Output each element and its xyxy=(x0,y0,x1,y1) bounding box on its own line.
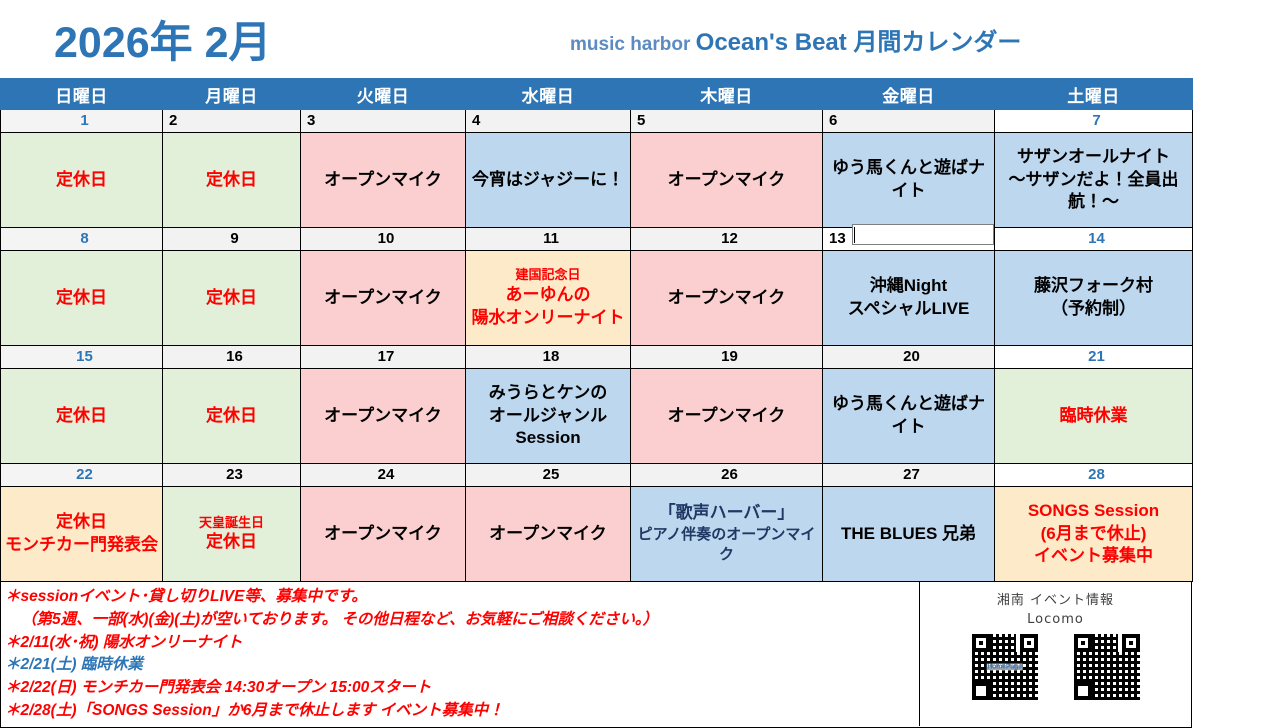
event-cell-17[interactable]: オープンマイク xyxy=(301,369,466,464)
date-cell-25[interactable]: 25 xyxy=(466,464,631,487)
event-cell-16[interactable]: 定休日 xyxy=(163,369,301,464)
date-cell-6[interactable]: 6 xyxy=(823,110,995,133)
event-cell-15[interactable]: 定休日 xyxy=(1,369,163,464)
event-line: 定休日 xyxy=(4,287,159,310)
date-cell-3[interactable]: 3 xyxy=(301,110,466,133)
event-cell-9[interactable]: 定休日 xyxy=(163,251,301,346)
event-cell-25[interactable]: オープンマイク xyxy=(466,487,631,582)
date-cell-11[interactable]: 11 xyxy=(466,228,631,251)
weekday-header-tue: 火曜日 xyxy=(301,79,466,110)
event-line: オープンマイク xyxy=(634,405,819,428)
event-line: 「歌声ハーバー」 xyxy=(634,502,819,525)
event-line: Session xyxy=(469,427,627,450)
weekday-header-fri: 金曜日 xyxy=(823,79,995,110)
event-line: 〜サザンだよ！全員出航！〜 xyxy=(998,169,1189,215)
brand-prefix: music harbor xyxy=(570,34,696,55)
page-title: 2026年 2月 xyxy=(54,8,272,70)
event-line: オープンマイク xyxy=(634,169,819,192)
event-row-week-2: 定休日 定休日 オープンマイク 建国記念日 あーゆんの 陽水オンリーナイト オー… xyxy=(1,251,1193,346)
event-line: 陽水オンリーナイト xyxy=(469,307,627,330)
event-line: あーゆんの xyxy=(469,284,627,307)
weekday-header-mon: 月曜日 xyxy=(163,79,301,110)
footer-notes-panel: ＊sessionイベント･貸し切りLIVE等、募集中です。 （第5週、一部(水)… xyxy=(0,582,1192,728)
event-cell-1[interactable]: 定休日 xyxy=(1,133,163,228)
date-cell-9[interactable]: 9 xyxy=(163,228,301,251)
date-row-week-3: 15 16 17 18 19 20 21 xyxy=(1,346,1193,369)
date-cell-22[interactable]: 22 xyxy=(1,464,163,487)
qr-dot-icon xyxy=(1081,641,1085,645)
page-header: 2026年 2月 music harbor Ocean's Beat 月間カレン… xyxy=(0,0,1280,78)
event-line: オープンマイク xyxy=(304,405,462,428)
text-caret xyxy=(854,227,855,243)
calendar-table: 日曜日 月曜日 火曜日 水曜日 木曜日 金曜日 土曜日 1 2 3 4 5 6 … xyxy=(0,78,1193,582)
qr-finder-icon xyxy=(1122,634,1140,652)
event-line: 沖縄Night xyxy=(826,275,991,298)
event-cell-22[interactable]: 定休日 モンチカー門発表会 xyxy=(1,487,163,582)
date-cell-16[interactable]: 16 xyxy=(163,346,301,369)
date-row-week-1: 1 2 3 4 5 6 7 xyxy=(1,110,1193,133)
date-cell-23[interactable]: 23 xyxy=(163,464,301,487)
date-cell-8[interactable]: 8 xyxy=(1,228,163,251)
weekday-header-sat: 土曜日 xyxy=(995,79,1193,110)
event-cell-19[interactable]: オープンマイク xyxy=(631,369,823,464)
qr-caption-line1: 湘南 イベント情報 xyxy=(920,592,1191,611)
qr-code-row: HomePage xyxy=(920,634,1191,700)
event-line: イベント募集中 xyxy=(998,545,1189,568)
event-cell-23[interactable]: 天皇誕生日 定休日 xyxy=(163,487,301,582)
qr-finder-icon xyxy=(1020,634,1038,652)
event-line: オープンマイク xyxy=(304,523,462,546)
date-cell-18[interactable]: 18 xyxy=(466,346,631,369)
event-cell-27[interactable]: THE BLUES 兄弟 xyxy=(823,487,995,582)
qr-dot-icon xyxy=(979,641,983,645)
date-cell-12[interactable]: 12 xyxy=(631,228,823,251)
event-line: みうらとケンの xyxy=(469,382,627,405)
event-cell-11[interactable]: 建国記念日 あーゆんの 陽水オンリーナイト xyxy=(466,251,631,346)
event-row-week-3: 定休日 定休日 オープンマイク みうらとケンの オールジャンル Session … xyxy=(1,369,1193,464)
qr-dot-icon xyxy=(979,689,983,693)
date-cell-10[interactable]: 10 xyxy=(301,228,466,251)
event-line: (6月まで休止) xyxy=(998,523,1189,546)
event-line: 定休日 xyxy=(166,287,297,310)
date-cell-7[interactable]: 7 xyxy=(995,110,1193,133)
event-line: サザンオールナイト xyxy=(998,146,1189,169)
event-line: モンチカー門発表会 xyxy=(4,534,159,557)
event-cell-3[interactable]: オープンマイク xyxy=(301,133,466,228)
event-line: オープンマイク xyxy=(304,169,462,192)
event-cell-14[interactable]: 藤沢フォーク村 （予約制） xyxy=(995,251,1193,346)
brand-title: music harbor Ocean's Beat 月間カレンダー xyxy=(570,22,1021,57)
event-cell-21[interactable]: 臨時休業 xyxy=(995,369,1193,464)
event-line: 天皇誕生日 xyxy=(166,514,297,532)
event-line: 建国記念日 xyxy=(469,266,627,284)
event-line: 定休日 xyxy=(166,405,297,428)
event-cell-28[interactable]: SONGS Session (6月まで休止) イベント募集中 xyxy=(995,487,1193,582)
date-row-week-4: 22 23 24 25 26 27 28 xyxy=(1,464,1193,487)
event-cell-7[interactable]: サザンオールナイト 〜サザンだよ！全員出航！〜 xyxy=(995,133,1193,228)
date-cell-26[interactable]: 26 xyxy=(631,464,823,487)
event-cell-8[interactable]: 定休日 xyxy=(1,251,163,346)
qr-caption-line2: Locomo xyxy=(920,611,1191,630)
event-cell-6[interactable]: ゆう馬くんと遊ばナイト xyxy=(823,133,995,228)
date-cell-1[interactable]: 1 xyxy=(1,110,163,133)
event-cell-4[interactable]: 今宵はジャジーに！ xyxy=(466,133,631,228)
date-cell-14[interactable]: 14 xyxy=(995,228,1193,251)
qr-homepage-label: HomePage xyxy=(986,663,1023,670)
date-cell-4[interactable]: 4 xyxy=(466,110,631,133)
date-cell-27[interactable]: 27 xyxy=(823,464,995,487)
event-row-week-4: 定休日 モンチカー門発表会 天皇誕生日 定休日 オープンマイク オープンマイク … xyxy=(1,487,1193,582)
event-line: SONGS Session xyxy=(998,500,1189,523)
event-cell-10[interactable]: オープンマイク xyxy=(301,251,466,346)
event-line: ゆう馬くんと遊ばナイト xyxy=(826,393,991,439)
qr-dot-icon xyxy=(1081,689,1085,693)
date-cell-21[interactable]: 21 xyxy=(995,346,1193,369)
date-cell-17[interactable]: 17 xyxy=(301,346,466,369)
date-cell-28[interactable]: 28 xyxy=(995,464,1193,487)
event-line: ゆう馬くんと遊ばナイト xyxy=(826,157,991,203)
weekday-header-row: 日曜日 月曜日 火曜日 水曜日 木曜日 金曜日 土曜日 xyxy=(1,79,1193,110)
qr-caption: 湘南 イベント情報 Locomo xyxy=(920,582,1191,630)
weekday-header-sun: 日曜日 xyxy=(1,79,163,110)
event-line: 今宵はジャジーに！ xyxy=(469,169,627,192)
weekday-header-wed: 水曜日 xyxy=(466,79,631,110)
qr-code-homepage[interactable]: HomePage xyxy=(972,634,1038,700)
event-line: 定休日 xyxy=(4,169,159,192)
event-line: 定休日 xyxy=(4,511,159,534)
date-cell-2[interactable]: 2 xyxy=(163,110,301,133)
event-line: オールジャンル xyxy=(469,405,627,428)
event-line: オープンマイク xyxy=(304,287,462,310)
date-cell-5[interactable]: 5 xyxy=(631,110,823,133)
event-line: 定休日 xyxy=(166,169,297,192)
qr-code-locomo[interactable] xyxy=(1074,634,1140,700)
date-cell-15[interactable]: 15 xyxy=(1,346,163,369)
event-line: ピアノ伴奏のオープンマイク xyxy=(634,525,819,566)
event-line: オープンマイク xyxy=(634,287,819,310)
event-cell-18[interactable]: みうらとケンの オールジャンル Session xyxy=(466,369,631,464)
event-cell-20[interactable]: ゆう馬くんと遊ばナイト xyxy=(823,369,995,464)
event-line: THE BLUES 兄弟 xyxy=(826,523,991,546)
event-cell-12[interactable]: オープンマイク xyxy=(631,251,823,346)
event-row-week-1: 定休日 定休日 オープンマイク 今宵はジャジーに！ オープンマイク ゆう馬くんと… xyxy=(1,133,1193,228)
date-row-week-2: 8 9 10 11 12 13 14 xyxy=(1,228,1193,251)
event-line: オープンマイク xyxy=(469,523,627,546)
event-line: 定休日 xyxy=(4,405,159,428)
event-cell-2[interactable]: 定休日 xyxy=(163,133,301,228)
event-cell-5[interactable]: オープンマイク xyxy=(631,133,823,228)
event-line: 臨時休業 xyxy=(998,405,1189,428)
event-cell-26[interactable]: 「歌声ハーバー」 ピアノ伴奏のオープンマイク xyxy=(631,487,823,582)
date-cell-20[interactable]: 20 xyxy=(823,346,995,369)
cell-edit-textbox[interactable] xyxy=(852,224,994,245)
event-line: （予約制） xyxy=(998,298,1189,321)
qr-panel: 湘南 イベント情報 Locomo HomePage xyxy=(919,582,1191,726)
event-cell-13[interactable]: 沖縄Night スペシャルLIVE xyxy=(823,251,995,346)
event-line: 定休日 xyxy=(166,531,297,554)
weekday-header-thu: 木曜日 xyxy=(631,79,823,110)
brand-main: Ocean's Beat 月間カレンダー xyxy=(696,29,1022,56)
event-cell-24[interactable]: オープンマイク xyxy=(301,487,466,582)
date-cell-24[interactable]: 24 xyxy=(301,464,466,487)
event-line: 藤沢フォーク村 xyxy=(998,275,1189,298)
date-cell-19[interactable]: 19 xyxy=(631,346,823,369)
event-line: スペシャルLIVE xyxy=(826,298,991,321)
